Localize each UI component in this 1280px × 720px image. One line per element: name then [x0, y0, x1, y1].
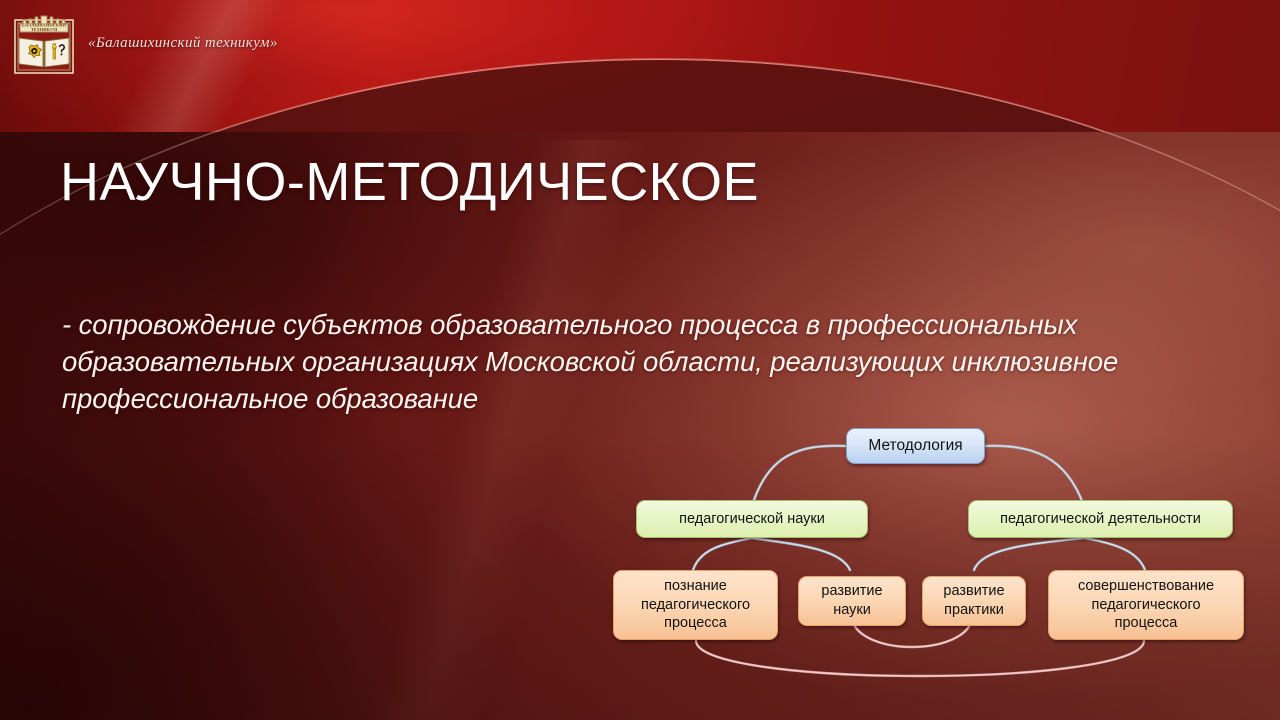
diagram-node-leaf-cognition[interactable]: познание педагогического процесса: [613, 570, 778, 640]
diagram-node-branch-pedagogical-science[interactable]: педагогической науки: [636, 500, 868, 538]
crest-logo-icon: БАЛАШИХИНСКИЙ ТЕХНИКУМ: [14, 12, 74, 74]
diagram-node-branch-pedagogical-activity[interactable]: педагогической деятельности: [968, 500, 1233, 538]
presentation-slide: БАЛАШИХИНСКИЙ ТЕХНИКУМ «Балашихинский те…: [0, 0, 1280, 720]
svg-text:ТЕХНИКУМ: ТЕХНИКУМ: [31, 27, 58, 32]
methodology-mind-map: Методология педагогической науки педагог…: [600, 418, 1260, 698]
brand-name: «Балашихинский техникум»: [88, 35, 278, 52]
diagram-node-leaf-science-development[interactable]: развитие науки: [798, 576, 906, 626]
diagram-node-root[interactable]: Методология: [846, 428, 985, 464]
diagram-node-leaf-practice-development[interactable]: развитие практики: [922, 576, 1026, 626]
slide-body-text: - сопровождение субъектов образовательно…: [62, 306, 1152, 417]
diagram-node-leaf-process-improvement[interactable]: совершенствование педагогического процес…: [1048, 570, 1244, 640]
page-title: НАУЧНО-МЕТОДИЧЕСКОЕ: [60, 153, 1220, 211]
brand-header: БАЛАШИХИНСКИЙ ТЕХНИКУМ «Балашихинский те…: [14, 12, 278, 74]
